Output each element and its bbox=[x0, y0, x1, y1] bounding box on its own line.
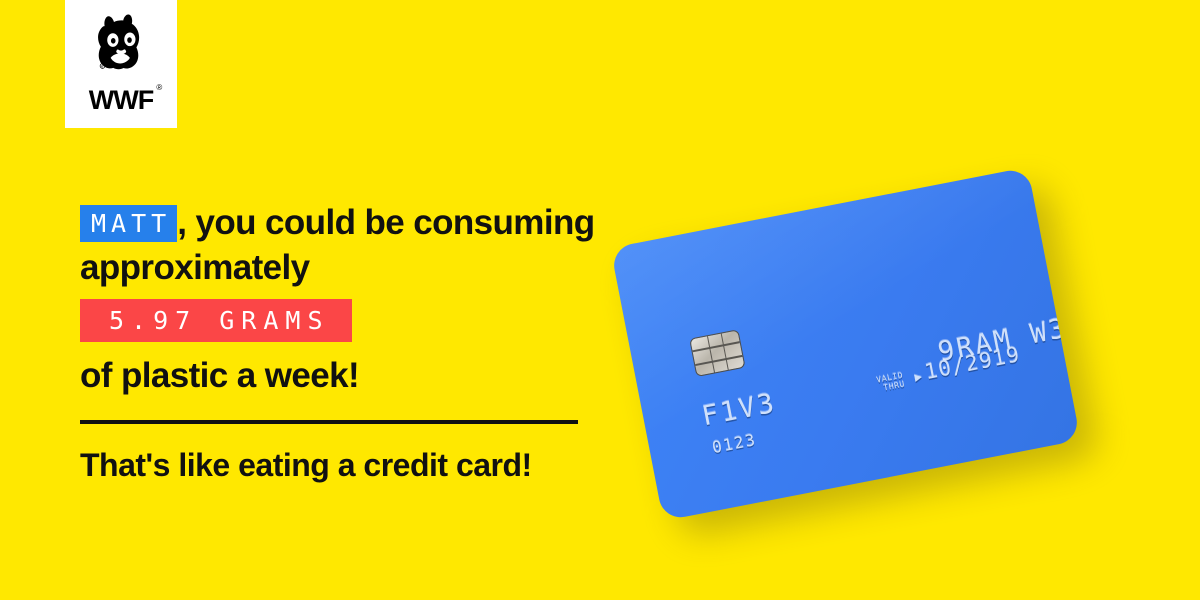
wwf-wordmark: WWF® bbox=[89, 87, 153, 114]
credit-card: F1V3 9RAM W33K D13T 0123 VALID THRU ▶ 10… bbox=[610, 167, 1080, 521]
headline-line-1-rest: , you could be consuming bbox=[177, 203, 594, 242]
name-highlight: MATT bbox=[80, 205, 177, 242]
valid-thru-label: VALID THRU bbox=[876, 371, 906, 394]
poster-canvas: R WWF® MATT, you could be consuming appr… bbox=[0, 0, 1200, 600]
headline-line-3: of plastic a week! bbox=[80, 353, 600, 398]
registered-mark: ® bbox=[156, 84, 161, 92]
kicker-text: That's like eating a credit card! bbox=[80, 446, 600, 484]
valid-thru-arrow-icon: ▶ bbox=[913, 369, 923, 384]
headline-line-2: approximately bbox=[80, 245, 600, 290]
card-small-number: 0123 bbox=[711, 430, 758, 457]
wwf-wordmark-text: WWF bbox=[89, 85, 153, 115]
panda-icon: R bbox=[84, 9, 158, 83]
amount-highlight: 5.97 GRAMS bbox=[80, 299, 352, 342]
amount-row: 5.97 GRAMS bbox=[80, 299, 600, 342]
headline-line-1: MATT, you could be consuming bbox=[80, 200, 600, 245]
card-number-left: F1V3 bbox=[699, 388, 779, 433]
wwf-logo: R WWF® bbox=[65, 0, 177, 128]
divider-rule bbox=[80, 420, 578, 424]
emv-chip-icon bbox=[689, 329, 746, 377]
svg-text:R: R bbox=[101, 65, 104, 69]
message-block: MATT, you could be consuming approximate… bbox=[80, 200, 600, 484]
